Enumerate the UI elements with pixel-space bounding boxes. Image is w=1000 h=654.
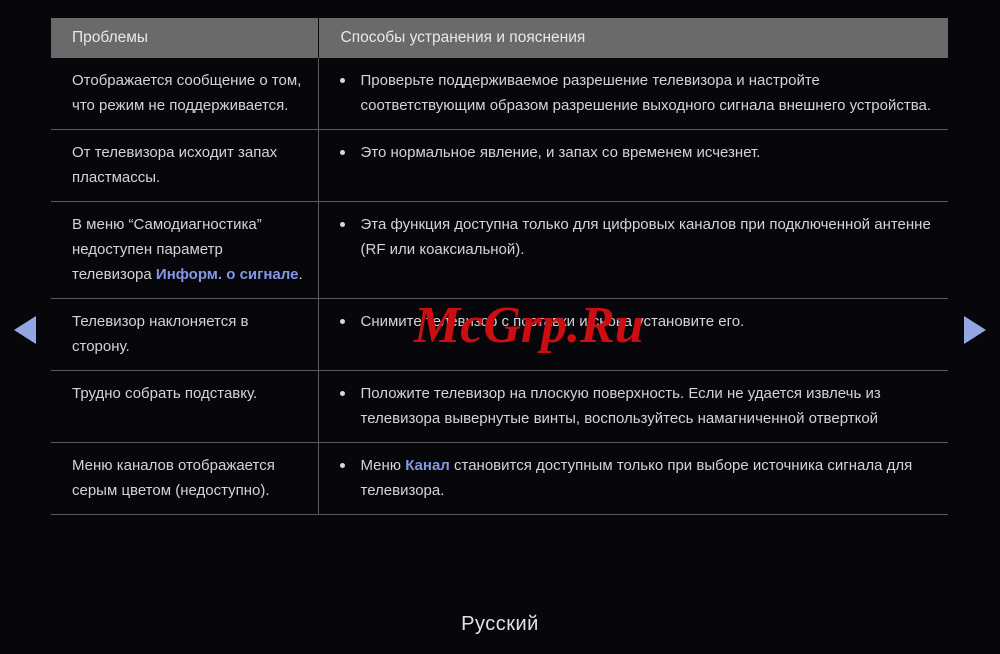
triangle-left-icon[interactable] xyxy=(14,316,36,344)
solution-bullet-item: Эта функция доступна только для цифровых… xyxy=(319,212,935,262)
solution-bullet-list: Это нормальное явление, и запах со време… xyxy=(319,140,935,165)
cell-solution: Положите телевизор на плоскую поверхност… xyxy=(318,371,948,443)
footer-language-label: Русский xyxy=(0,613,1000,636)
cell-solution: Эта функция доступна только для цифровых… xyxy=(318,202,948,299)
cell-problem: Трудно собрать подставку. xyxy=(51,371,318,443)
cell-problem: От телевизора исходит запах пластмассы. xyxy=(51,130,318,202)
solution-bullet-list: Эта функция доступна только для цифровых… xyxy=(319,212,935,262)
troubleshooting-table: Проблемы Способы устранения и пояснения … xyxy=(51,18,948,515)
solution-bullet-list: Положите телевизор на плоскую поверхност… xyxy=(319,381,935,431)
table-header: Проблемы Способы устранения и пояснения xyxy=(51,18,948,58)
menu-keyword: Информ. о сигнале xyxy=(156,266,299,283)
solution-bullet-list: Снимите телевизор с поставки и снова уст… xyxy=(319,309,935,334)
troubleshooting-table-wrapper: Проблемы Способы устранения и пояснения … xyxy=(51,18,948,515)
cell-solution: Снимите телевизор с поставки и снова уст… xyxy=(318,299,948,371)
solution-bullet-item: Это нормальное явление, и запах со време… xyxy=(319,140,935,165)
solution-bullet-list: Проверьте поддерживаемое разрешение теле… xyxy=(319,68,935,118)
column-header-problem: Проблемы xyxy=(51,18,318,58)
table-body: Отображается сообщение о том, что режим … xyxy=(51,58,948,515)
solution-bullet-list: Меню Канал становится доступным только п… xyxy=(319,453,935,503)
table-header-row: Проблемы Способы устранения и пояснения xyxy=(51,18,948,58)
cell-problem: В меню “Самодиагностика” недоступен пара… xyxy=(51,202,318,299)
table-row: Телевизор наклоняется в сторону.Снимите … xyxy=(51,299,948,371)
solution-bullet-item: Проверьте поддерживаемое разрешение теле… xyxy=(319,68,935,118)
solution-bullet-item: Положите телевизор на плоскую поверхност… xyxy=(319,381,935,431)
cell-solution: Проверьте поддерживаемое разрешение теле… xyxy=(318,58,948,130)
triangle-right-icon[interactable] xyxy=(964,316,986,344)
cell-problem: Отображается сообщение о том, что режим … xyxy=(51,58,318,130)
solution-bullet-item: Меню Канал становится доступным только п… xyxy=(319,453,935,503)
cell-solution: Меню Канал становится доступным только п… xyxy=(318,443,948,515)
solution-bullet-item: Снимите телевизор с поставки и снова уст… xyxy=(319,309,935,334)
cell-solution: Это нормальное явление, и запах со време… xyxy=(318,130,948,202)
table-row: В меню “Самодиагностика” недоступен пара… xyxy=(51,202,948,299)
table-row: Трудно собрать подставку.Положите телеви… xyxy=(51,371,948,443)
table-row: От телевизора исходит запах пластмассы.Э… xyxy=(51,130,948,202)
table-row: Отображается сообщение о том, что режим … xyxy=(51,58,948,130)
table-row: Меню каналов отображается серым цветом (… xyxy=(51,443,948,515)
cell-problem: Телевизор наклоняется в сторону. xyxy=(51,299,318,371)
cell-problem: Меню каналов отображается серым цветом (… xyxy=(51,443,318,515)
tv-manual-screen: Проблемы Способы устранения и пояснения … xyxy=(0,0,1000,654)
column-header-solution: Способы устранения и пояснения xyxy=(318,18,948,58)
menu-keyword: Канал xyxy=(405,457,450,474)
